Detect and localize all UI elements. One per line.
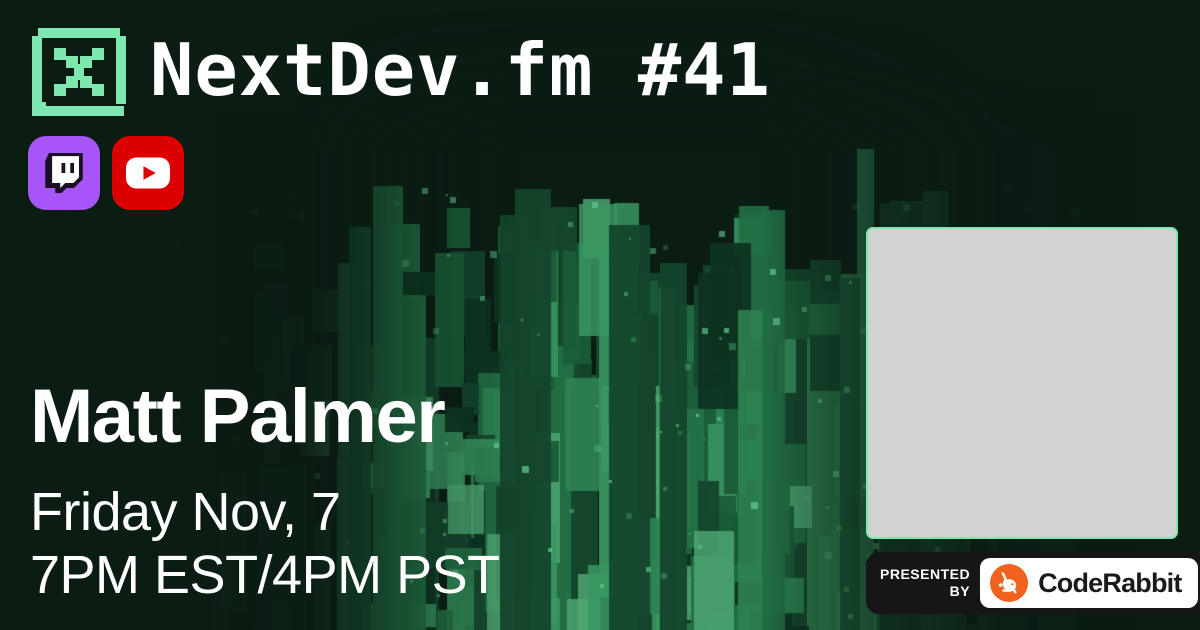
coderabbit-wordmark: CodeRabbit — [1038, 568, 1182, 599]
social-links — [28, 136, 184, 210]
header: NextDev.fm #41 — [30, 26, 771, 118]
speaker-name: Matt Palmer — [30, 379, 500, 455]
nextdev-pixel-x-logo-icon — [30, 26, 128, 118]
event-date: Friday Nov, 7 — [30, 481, 500, 545]
presented-by-line-1: PRESENTED — [880, 566, 970, 584]
event-time: 7PM EST/4PM PST — [30, 544, 500, 608]
page-title: NextDev.fm #41 — [150, 34, 771, 106]
guest-photo-placeholder — [866, 227, 1178, 539]
coderabbit-rabbit-icon — [990, 564, 1028, 602]
coderabbit-logo-pill[interactable]: CodeRabbit — [980, 558, 1198, 608]
speaker-info: Matt Palmer Friday Nov, 7 7PM EST/4PM PS… — [30, 379, 500, 608]
presented-by-badge: PRESENTED BY CodeRabbit — [866, 552, 1200, 614]
stream-announcement-card: NextDev.fm #41 Matt Palmer Friday Nov, 7… — [0, 0, 1200, 630]
presented-by-label: PRESENTED BY — [880, 566, 970, 601]
presented-by-line-2: BY — [880, 583, 970, 601]
twitch-icon[interactable] — [28, 136, 100, 210]
youtube-icon[interactable] — [112, 136, 184, 210]
